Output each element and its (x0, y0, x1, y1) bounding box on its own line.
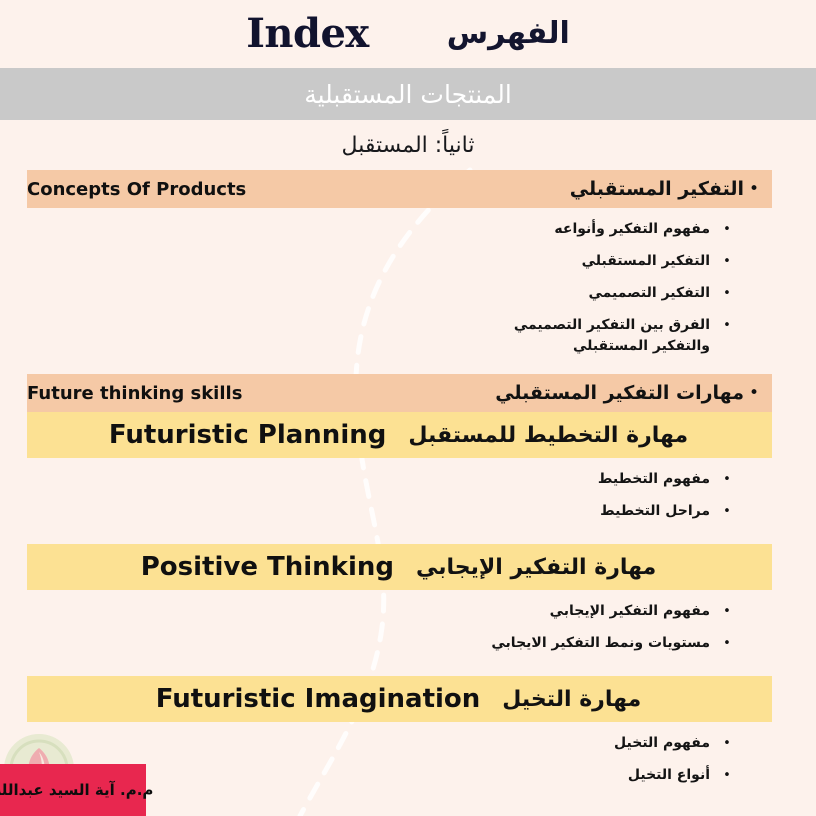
spacer (0, 660, 816, 676)
section-title-en: Concepts Of Products (27, 179, 258, 200)
section-title-en: Futuristic Imagination (156, 684, 481, 714)
page-title-en: Index (246, 14, 369, 54)
list-item-label: مفهوم التخطيط (540, 469, 710, 490)
course-title-banner: المنتجات المستقبلية (0, 68, 816, 120)
section-title-ar: مهارة التخيل (502, 687, 641, 712)
bullet-icon: • (710, 315, 744, 337)
section-title-en: Positive Thinking (141, 552, 394, 582)
index-content: • التفكير المستقبلي Concepts Of Products… (0, 170, 816, 792)
slide-page: Index الفهرس المنتجات المستقبلية ثانياً:… (0, 0, 816, 816)
list-item-label: مفهوم التفكير الإيجابي (540, 601, 710, 622)
bullet-icon: • (710, 633, 744, 655)
spacer (0, 362, 816, 374)
list-item[interactable]: • مستويات ونمط التفكير الايجابي (0, 628, 744, 660)
section-band-futuristic-imagination[interactable]: مهارة التخيل Futuristic Imagination (27, 676, 772, 722)
list-item[interactable]: • مفهوم التفكير الإيجابي (0, 596, 744, 628)
section-band-positive-thinking[interactable]: مهارة التفكير الإيجابي Positive Thinking (27, 544, 772, 590)
list-item[interactable]: • التفكير التصميمي (0, 278, 744, 310)
bullet-icon: • (710, 469, 744, 491)
list-item-label: الفرق بين التفكير التصميمي والتفكير المس… (514, 315, 710, 357)
subitem-list-futuristic-planning: • مفهوم التخطيط • مراحل التخطيط (0, 464, 816, 528)
list-item-label: مستويات ونمط التفكير الايجابي (491, 633, 710, 654)
list-item-label: مراحل التخطيط (540, 501, 710, 522)
bullet-icon: • (746, 385, 762, 402)
section-band-future-thinking-skills[interactable]: • مهارات التفكير المستقبلي Future thinki… (27, 374, 772, 412)
section-subtitle: ثانياً: المستقبل (0, 120, 816, 170)
list-item[interactable]: • مراحل التخطيط (0, 496, 744, 528)
bullet-icon: • (710, 283, 744, 305)
list-item[interactable]: • مفهوم التفكير وأنواعه (0, 214, 744, 246)
bullet-icon: • (710, 765, 744, 787)
section-title-en: Future thinking skills (27, 383, 254, 404)
bullet-icon: • (710, 219, 744, 241)
section-title-ar: مهارات التفكير المستقبلي (495, 382, 744, 404)
list-item-label: مفهوم التفكير وأنواعه (540, 219, 710, 240)
list-item[interactable]: • التفكير المستقبلي (0, 246, 744, 278)
section-title-ar: مهارة التخطيط للمستقبل (408, 423, 688, 448)
subitem-list-positive-thinking: • مفهوم التفكير الإيجابي • مستويات ونمط … (0, 596, 816, 660)
list-item[interactable]: • مفهوم التخطيط (0, 464, 744, 496)
section-band-futuristic-planning[interactable]: مهارة التخطيط للمستقبل Futuristic Planni… (27, 412, 772, 458)
list-item-label: أنواع التخيل (540, 765, 710, 786)
list-item[interactable]: • مفهوم التخيل (0, 728, 744, 760)
bullet-icon: • (710, 501, 744, 523)
section-title-en: Futuristic Planning (109, 420, 387, 450)
list-item-label: التفكير المستقبلي (540, 251, 710, 272)
author-name: م.م. آية السيد عبدالله (0, 781, 153, 799)
page-title-ar: الفهرس (447, 19, 570, 49)
section-band-concepts-of-products[interactable]: • التفكير المستقبلي Concepts Of Products (27, 170, 772, 208)
page-header: Index الفهرس (0, 0, 816, 68)
section-title-ar: التفكير المستقبلي (570, 178, 744, 200)
bullet-icon: • (710, 601, 744, 623)
list-item-label: مفهوم التخيل (540, 733, 710, 754)
bullet-icon: • (746, 181, 762, 198)
author-badge: م.م. آية السيد عبدالله (0, 764, 146, 816)
subitem-list-concepts-of-products: • مفهوم التفكير وأنواعه • التفكير المستق… (0, 214, 816, 362)
bullet-icon: • (710, 251, 744, 273)
list-item[interactable]: • الفرق بين التفكير التصميمي والتفكير ال… (0, 310, 744, 362)
course-title-text: المنتجات المستقبلية (304, 82, 512, 107)
spacer (0, 528, 816, 544)
list-item-label: التفكير التصميمي (540, 283, 710, 304)
section-title-ar: مهارة التفكير الإيجابي (416, 555, 656, 580)
bullet-icon: • (710, 733, 744, 755)
